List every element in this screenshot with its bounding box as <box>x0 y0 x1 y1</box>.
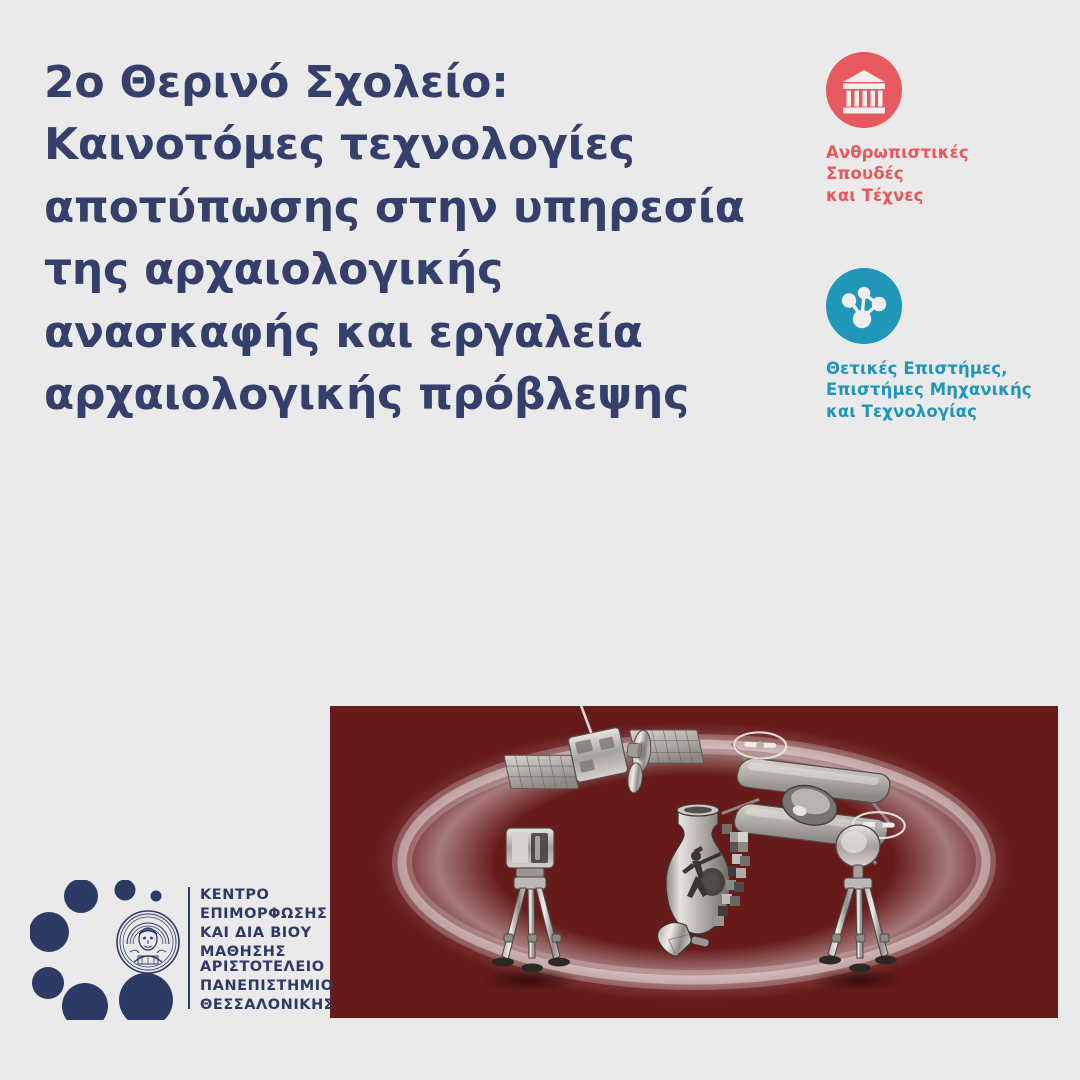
molecule-network-icon <box>826 268 902 344</box>
logo-university-name: ΑΡΙΣΤΟΤΕΛΕΙΟ ΠΑΝΕΠΙΣΤΗΜΙΟ ΘΕΣΣΑΛΟΝΙΚΗΣ <box>200 958 334 1015</box>
auth-seal <box>117 911 179 973</box>
badge-humanities: Ανθρωπιστικές Σπουδές και Τέχνες <box>826 52 1066 206</box>
page-title: 2ο Θερινό Σχολείο: Καινοτόμες τεχνολογίε… <box>44 52 784 427</box>
logo-divider <box>188 887 190 1009</box>
auth-logo-mark <box>30 880 180 1024</box>
footer-logo: ΚΕΝΤΡΟ ΕΠΙΜΟΡΦΩΣΗΣ ΚΑΙ ΔΙΑ ΒΙΟΥ ΜΑΘΗΣΗΣ … <box>30 880 320 1025</box>
logo-circles <box>30 880 173 1020</box>
badge-sciences: Θετικές Επιστήμες, Επιστήμες Μηχανικής κ… <box>826 268 1066 422</box>
logo-center-name: ΚΕΝΤΡΟ ΕΠΙΜΟΡΦΩΣΗΣ ΚΑΙ ΔΙΑ ΒΙΟΥ ΜΑΘΗΣΗΣ <box>200 886 327 963</box>
classical-temple-icon <box>826 52 902 128</box>
badge-humanities-label: Ανθρωπιστικές Σπουδές και Τέχνες <box>826 142 1066 206</box>
badge-sciences-label: Θετικές Επιστήμες, Επιστήμες Μηχανικής κ… <box>826 358 1066 422</box>
illustration-panel <box>330 706 1058 1018</box>
